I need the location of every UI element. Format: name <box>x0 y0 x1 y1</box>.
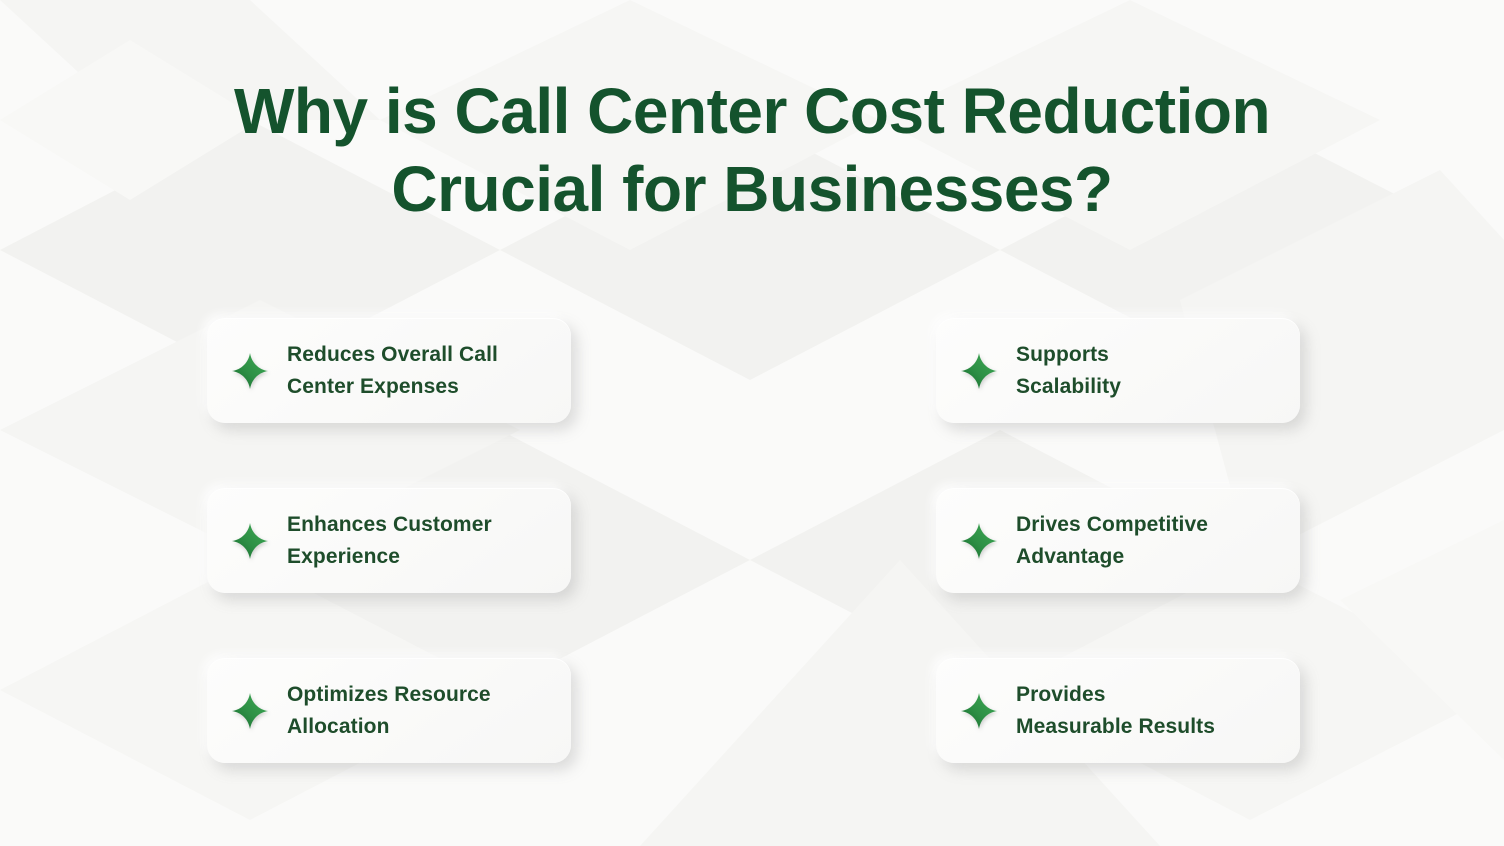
benefit-card-drives-competitive-advantage[interactable]: Drives Competitive Advantage <box>936 488 1300 593</box>
four-point-star-icon <box>231 352 269 390</box>
benefit-card-label: Drives Competitive Advantage <box>1016 509 1208 573</box>
benefit-card-label: Reduces Overall Call Center Expenses <box>287 339 498 403</box>
card-row: Reduces Overall Call Center Expenses <box>207 318 1300 423</box>
four-point-star-icon <box>960 522 998 560</box>
four-point-star-icon <box>231 692 269 730</box>
benefit-card-label: Supports Scalability <box>1016 339 1121 403</box>
page-title: Why is Call Center Cost Reduction Crucia… <box>0 72 1504 228</box>
slide-canvas: Why is Call Center Cost Reduction Crucia… <box>0 0 1504 846</box>
benefit-card-optimizes-resource-allocation[interactable]: Optimizes Resource Allocation <box>207 658 571 763</box>
four-point-star-icon <box>231 522 269 560</box>
benefit-card-supports-scalability[interactable]: Supports Scalability <box>936 318 1300 423</box>
benefit-card-label: Provides Measurable Results <box>1016 679 1215 743</box>
four-point-star-icon <box>960 352 998 390</box>
benefit-card-grid: Reduces Overall Call Center Expenses <box>207 318 1300 763</box>
four-point-star-icon <box>960 692 998 730</box>
benefit-card-label: Enhances Customer Experience <box>287 509 492 573</box>
benefit-card-reduces-expenses[interactable]: Reduces Overall Call Center Expenses <box>207 318 571 423</box>
benefit-card-provides-measurable-results[interactable]: Provides Measurable Results <box>936 658 1300 763</box>
title-container: Why is Call Center Cost Reduction Crucia… <box>0 72 1504 228</box>
benefit-card-enhances-customer-experience[interactable]: Enhances Customer Experience <box>207 488 571 593</box>
benefit-card-label: Optimizes Resource Allocation <box>287 679 491 743</box>
card-row: Enhances Customer Experience <box>207 488 1300 593</box>
card-row: Optimizes Resource Allocation <box>207 658 1300 763</box>
